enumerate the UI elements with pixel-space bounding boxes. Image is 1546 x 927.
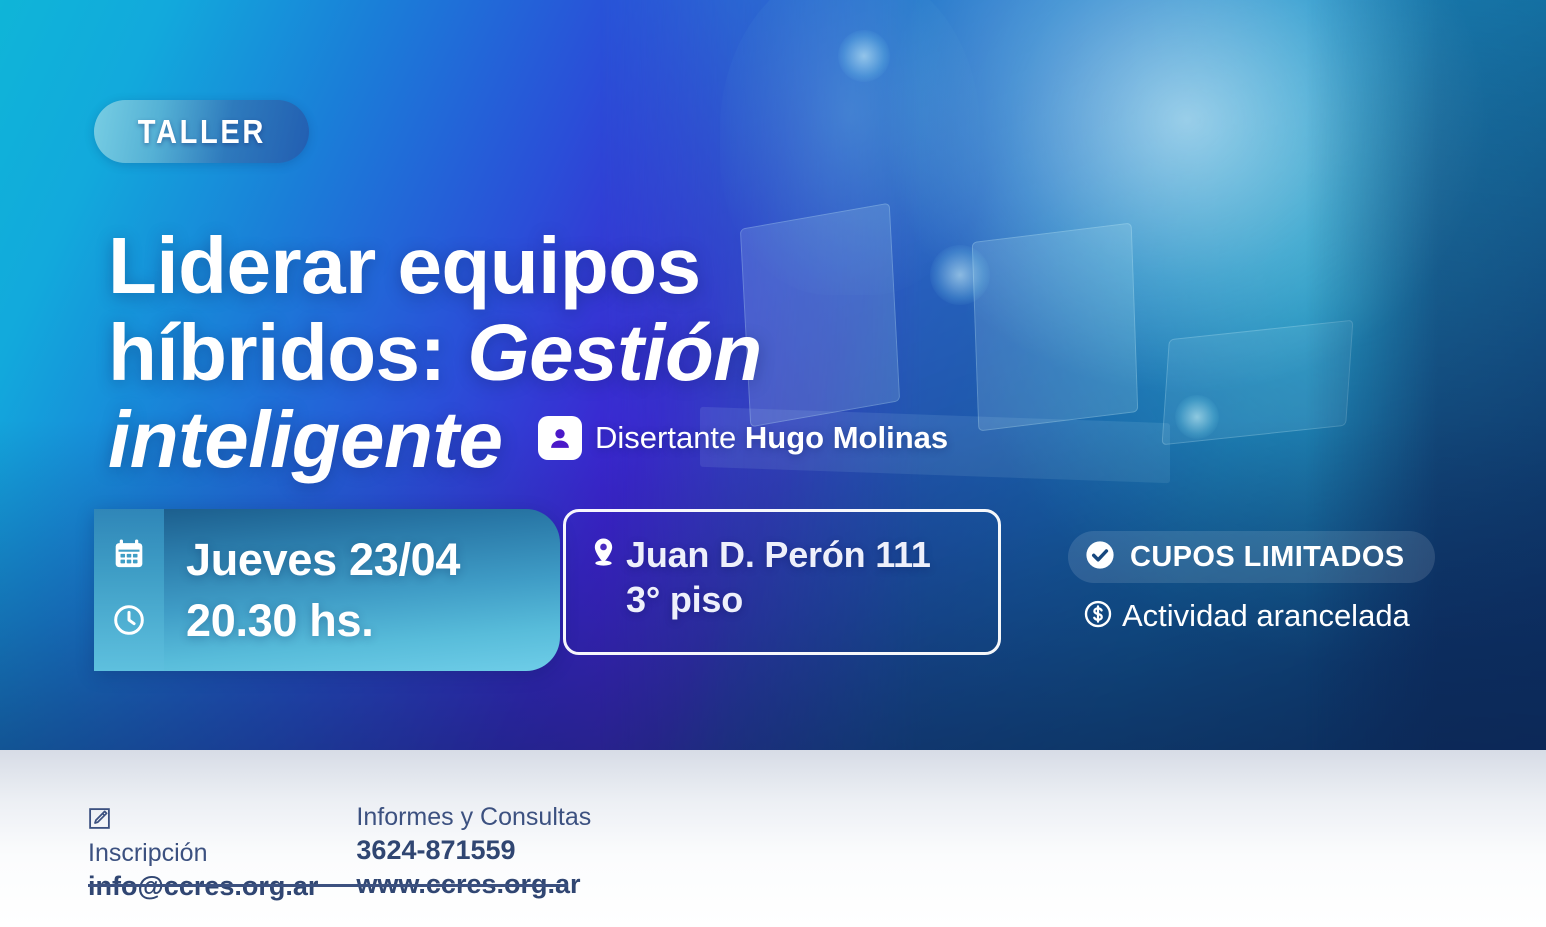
speaker-name: Hugo Molinas — [745, 420, 948, 455]
date-time-text: Jueves 23/04 20.30 hs. — [164, 509, 560, 671]
inquiries-heading: Informes y Consultas — [356, 802, 591, 833]
location-box: Juan D. Perón 111 3° piso — [563, 509, 1001, 655]
location-address: Juan D. Perón 111 — [626, 532, 931, 577]
event-date: Jueves 23/04 — [186, 529, 560, 590]
hero-section: TALLER Liderar equipos híbridos: Gestión… — [0, 0, 1546, 750]
category-badge-label: TALLER — [137, 113, 265, 151]
location-pin-icon — [590, 537, 617, 572]
title-line-1: Liderar equipos — [108, 222, 1028, 309]
inquiries-phone[interactable]: 3624-871559 — [356, 833, 591, 867]
pencil-square-icon — [88, 807, 318, 835]
footer-section: Inscripción info@ccres.org.ar Informes y… — [0, 750, 1546, 927]
check-circle-icon — [1084, 539, 1116, 576]
speaker-text: Disertante Hugo Molinas — [595, 420, 948, 456]
clock-icon — [112, 603, 146, 642]
fee-note: Actividad arancelada — [1083, 598, 1410, 634]
fee-label: Actividad arancelada — [1122, 598, 1410, 634]
background-bokeh-2 — [1175, 395, 1219, 439]
title-line-2-plain: híbridos: — [108, 308, 467, 397]
date-time-icon-column — [94, 509, 164, 671]
event-time: 20.30 hs. — [186, 590, 560, 651]
title-line-2-italic: Gestión — [467, 308, 761, 397]
limited-seats-label: CUPOS LIMITADOS — [1130, 541, 1405, 574]
person-badge-icon — [538, 416, 582, 460]
speaker-role: Disertante — [595, 420, 736, 455]
title-line-2: híbridos: Gestión — [108, 309, 1028, 396]
inscription-column: Inscripción info@ccres.org.ar — [88, 802, 318, 903]
date-time-box: Jueves 23/04 20.30 hs. — [94, 509, 560, 671]
background-bokeh-3 — [838, 30, 890, 82]
hero-right-shade — [1306, 0, 1546, 750]
inscription-label: Inscripción — [88, 838, 318, 869]
location-floor: 3° piso — [626, 577, 931, 622]
contact-block: Inscripción info@ccres.org.ar Informes y… — [88, 802, 591, 903]
dollar-circle-icon — [1083, 599, 1113, 634]
title-line-3-italic: inteligente — [108, 395, 503, 484]
category-badge: TALLER — [94, 100, 309, 163]
limited-seats-badge: CUPOS LIMITADOS — [1068, 531, 1435, 583]
contact-underline — [88, 884, 568, 887]
speaker-block: Disertante Hugo Molinas — [538, 416, 948, 460]
event-flyer: TALLER Liderar equipos híbridos: Gestión… — [0, 0, 1546, 927]
inquiries-column: Informes y Consultas 3624-871559 www.ccr… — [356, 802, 591, 903]
calendar-icon — [112, 538, 146, 577]
